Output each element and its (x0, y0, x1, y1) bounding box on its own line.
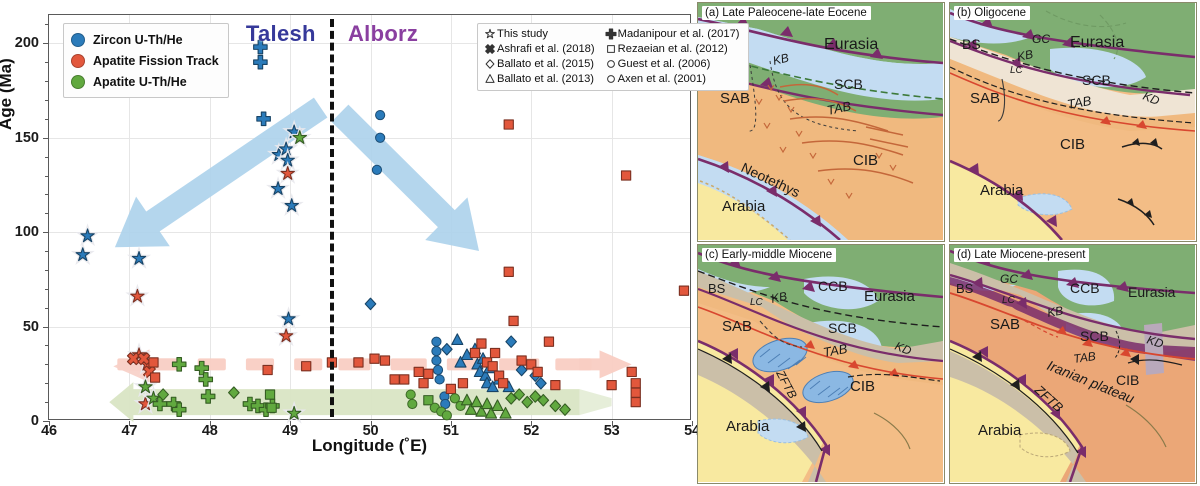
data-point (139, 380, 152, 393)
y-tick-mark-minor (45, 119, 49, 120)
data-point (372, 165, 381, 174)
data-point (81, 229, 94, 242)
marker-halo (285, 404, 302, 421)
data-point (282, 312, 295, 325)
data-point (452, 334, 463, 345)
sources-legend-label: Ballato et al. (2013) (497, 72, 605, 87)
data-point (406, 390, 415, 399)
data-point (132, 348, 145, 361)
data-point (144, 366, 156, 378)
triangle-marker-icon (484, 73, 496, 85)
map-b-title: (b) Oligocene (954, 6, 1030, 20)
aft-trend-band-segment (499, 358, 539, 370)
sources-legend-label: Rezaeian et al. (2012) (618, 42, 743, 57)
talesh-alborz-divider (330, 19, 334, 417)
aft-trend-band-segment (117, 358, 177, 370)
sources-legend-row: Ashrafi et al. (2018)Rezaeian et al. (20… (483, 42, 743, 57)
map-c-label-cib: CIB (850, 378, 875, 395)
data-point (476, 406, 487, 417)
data-point (267, 403, 276, 412)
map-c-graphic: BS CCB Eurasia LC KB SAB SCB KD TAB ZFTB… (698, 245, 943, 482)
marker-halo (277, 140, 294, 157)
data-point (167, 397, 181, 411)
y-tick-mark-minor (45, 194, 49, 195)
x-tick-mark (692, 421, 693, 426)
data-point (440, 392, 449, 401)
region-label-alborz: Alborz (348, 21, 418, 47)
data-point (474, 366, 485, 377)
data-point (432, 347, 441, 356)
y-tick-label: 0 (31, 413, 39, 429)
map-panel-d[interactable]: BS GC CCB Eurasia LC KB SAB SCB KD TAB I… (949, 244, 1197, 484)
x-axis-label: Longitude (˚E) (48, 436, 691, 456)
data-point (251, 399, 264, 413)
marker-halo (145, 389, 162, 406)
marker-halo (277, 327, 294, 344)
marker-halo (137, 395, 154, 412)
methods-legend-label: Apatite U-Th/He (93, 75, 187, 89)
methods-legend-item: Zircon U-Th/He (71, 29, 219, 50)
y-tick-mark-minor (45, 62, 49, 63)
data-point (272, 148, 285, 161)
ahe-trend-band-tail (579, 389, 611, 415)
region-label-talesh: Talesh (246, 21, 316, 47)
y-axis-label: Age (Ma) (0, 58, 16, 130)
map-b-label-lc: LC (1010, 65, 1024, 76)
data-point (76, 248, 89, 261)
map-c-label-ccb: CCB (818, 278, 848, 294)
data-point (621, 171, 630, 180)
map-c-label-lc: LC (750, 297, 764, 308)
data-point (376, 110, 385, 119)
sources-legend-symbol-cell (605, 72, 618, 87)
data-point (390, 375, 399, 384)
map-a-label-eurasia: Eurasia (824, 36, 878, 53)
data-point (138, 353, 150, 365)
data-point (259, 403, 273, 417)
data-point (432, 356, 441, 365)
circle-icon (71, 54, 85, 68)
age-longitude-scatter-panel: Age (Ma) Longitude (˚E) 4647484950515253… (0, 0, 695, 486)
y-tick-mark-minor (45, 270, 49, 271)
data-point (158, 389, 169, 401)
map-d-label-kb: KB (1046, 303, 1064, 320)
data-point (499, 379, 508, 388)
data-point (424, 396, 433, 405)
data-point (437, 407, 446, 416)
map-d-label-bs: BS (956, 281, 974, 296)
y-tick-label: 200 (15, 35, 39, 51)
data-point (254, 55, 267, 68)
map-b-label-sab: SAB (970, 90, 1000, 107)
grid-line-vertical (290, 15, 291, 419)
data-point (271, 182, 284, 195)
data-point (514, 389, 525, 401)
series-apatite-fission-track (127, 120, 688, 411)
data-point (400, 375, 409, 384)
data-point (132, 252, 145, 265)
ahe-trend-band-arrow (109, 382, 579, 422)
data-point (538, 394, 549, 406)
sources-legend-label: Ashrafi et al. (2018) (497, 42, 605, 57)
map-d-label-sab: SAB (990, 316, 1020, 333)
map-c-label-arabia: Arabia (726, 418, 770, 435)
data-point (500, 407, 511, 418)
sources-legend-symbol-cell (605, 27, 618, 42)
y-tick-mark (43, 138, 49, 139)
data-point (544, 337, 553, 346)
y-tick-mark-minor (45, 364, 49, 365)
series-apatite-u-th-he (137, 129, 571, 421)
data-point (229, 387, 240, 399)
x-tick-mark (210, 421, 211, 426)
data-point (469, 343, 480, 354)
data-point (354, 358, 363, 367)
y-tick-mark-minor (45, 402, 49, 403)
sources-legend-symbol-cell (605, 42, 618, 57)
marker-halo (130, 346, 147, 363)
data-point (478, 353, 489, 364)
data-point (631, 379, 640, 388)
sources-legend-label: Ballato et al. (2015) (497, 57, 605, 72)
marker-halo (270, 146, 287, 163)
data-point (458, 379, 467, 388)
data-point (201, 390, 214, 404)
cross-marker-icon (484, 43, 496, 55)
tectonic-evolution-maps: BS Eurasia KB SCB SAB TAB CIB Neotethys … (695, 0, 1200, 486)
data-point (506, 393, 517, 405)
data-point (432, 337, 441, 346)
data-point (627, 367, 636, 376)
data-point (550, 400, 561, 412)
map-b-label-cib: CIB (1060, 136, 1085, 153)
map-b-label-gc: GC (1032, 32, 1050, 46)
data-point (419, 379, 428, 388)
data-point (472, 358, 483, 369)
x-tick-mark (290, 421, 291, 426)
data-point (504, 267, 513, 276)
marker-halo (79, 227, 96, 244)
data-point (516, 364, 527, 376)
map-panel-c[interactable]: BS CCB Eurasia LC KB SAB SCB KD TAB ZFTB… (697, 244, 945, 484)
methods-legend-item: Apatite Fission Track (71, 50, 219, 71)
map-c-title: (c) Early-middle Miocene (702, 248, 836, 262)
aft-trend-band-segment (198, 358, 226, 370)
grid-line-horizontal (49, 327, 690, 328)
data-point (149, 358, 158, 367)
data-point (424, 369, 433, 378)
map-d-label-gc: GC (1000, 272, 1018, 286)
map-c-label-bs: BS (708, 281, 726, 296)
y-tick-mark-minor (45, 251, 49, 252)
sources-legend-label: Axen et al. (2001) (618, 72, 743, 87)
data-point (480, 370, 491, 381)
data-point (285, 199, 298, 212)
y-tick-mark-minor (45, 383, 49, 384)
y-tick-mark-minor (45, 100, 49, 101)
data-point (281, 153, 294, 166)
y-tick-label: 50 (23, 319, 39, 335)
data-point (131, 289, 144, 302)
marker-halo (138, 355, 155, 372)
sources-legend-label: Guest et al. (2006) (618, 57, 743, 72)
map-a-title: (a) Late Paleocene-late Eocene (702, 6, 871, 20)
x-tick-mark (451, 421, 452, 426)
data-point (486, 407, 497, 418)
x-tick-mark (129, 421, 130, 426)
grid-line-vertical (371, 15, 372, 419)
y-tick-mark-minor (45, 81, 49, 82)
figure-root: Age (Ma) Longitude (˚E) 4647484950515253… (0, 0, 1200, 486)
data-point (456, 401, 465, 410)
data-point (441, 399, 450, 408)
x-tick-mark (49, 421, 50, 426)
methods-legend: Zircon U-Th/HeApatite Fission TrackApati… (63, 23, 229, 98)
sources-legend-symbol-cell (483, 72, 497, 87)
sources-legend-row: Ballato et al. (2015)Guest et al. (2006) (483, 57, 743, 72)
plot-area: 464748495051525354050100150200 Talesh Al… (48, 14, 691, 420)
sources-legend-row: This studyMadanipour et al. (2017) (483, 27, 743, 42)
data-point (281, 167, 294, 180)
data-point (482, 358, 491, 367)
map-d-label-eurasia: Eurasia (1128, 284, 1176, 300)
sources-legend-symbol-cell (605, 57, 618, 72)
grid-line-vertical (451, 15, 452, 419)
data-point (631, 398, 640, 407)
data-point (257, 112, 271, 126)
y-tick-mark (43, 327, 49, 328)
y-tick-mark (43, 421, 49, 422)
map-c-label-eurasia: Eurasia (864, 288, 916, 305)
y-tick-mark-minor (45, 24, 49, 25)
data-point (503, 381, 514, 392)
circle-icon (71, 33, 85, 47)
data-point (430, 403, 439, 412)
sources-legend-label: Madanipour et al. (2017) (618, 27, 743, 42)
data-point (461, 394, 472, 405)
circle-marker-icon (605, 58, 617, 70)
data-point (263, 365, 272, 374)
data-point (551, 381, 560, 390)
data-point (484, 362, 495, 373)
marker-halo (279, 151, 296, 168)
marker-halo (280, 310, 297, 327)
map-b-graphic: BS GC Eurasia KB LC SCB KD SAB TAB CIB A… (950, 3, 1195, 240)
map-a-label-scb: SCB (834, 76, 863, 92)
methods-legend-label: Apatite Fission Track (93, 54, 219, 68)
data-point (172, 358, 186, 372)
data-point (265, 390, 274, 399)
methods-legend-label: Zircon U-Th/He (93, 33, 183, 47)
x-tick-mark (531, 421, 532, 426)
map-a-label-cib: CIB (853, 152, 878, 169)
y-tick-label: 100 (15, 224, 39, 240)
y-tick-mark (43, 43, 49, 44)
data-point (482, 377, 493, 388)
aft-trend-arrowhead-left (113, 349, 173, 382)
diamond-marker-icon (484, 58, 496, 70)
sources-legend: This studyMadanipour et al. (2017)Ashraf… (477, 23, 749, 91)
data-point (536, 377, 547, 389)
data-point (471, 396, 482, 407)
data-point (408, 399, 417, 408)
data-point (243, 397, 257, 411)
map-d-label-scb: SCB (1080, 328, 1109, 344)
sources-legend-symbol-cell (483, 42, 497, 57)
aft-trend-band-segment (338, 358, 370, 370)
map-b-label-arabia: Arabia (980, 182, 1024, 199)
map-b-label-bs: BS (962, 36, 981, 52)
y-tick-mark (43, 232, 49, 233)
data-point (433, 365, 442, 374)
y-tick-mark-minor (45, 157, 49, 158)
data-point (139, 397, 152, 410)
marker-halo (129, 287, 146, 304)
aft-trend-band-segment (555, 358, 591, 370)
data-point (195, 361, 208, 375)
circle-marker-icon (605, 73, 617, 85)
aft-trend-band-segment (294, 358, 322, 370)
data-point (470, 348, 479, 357)
data-point (266, 399, 280, 413)
map-panel-b[interactable]: BS GC Eurasia KB LC SCB KD SAB TAB CIB A… (949, 2, 1197, 242)
data-point (488, 362, 497, 371)
data-point (487, 381, 498, 392)
data-point (490, 348, 499, 357)
map-c-label-scb: SCB (828, 320, 857, 336)
map-c-label-sab: SAB (722, 318, 752, 335)
divergent-exhumation-arrow-right (332, 105, 479, 251)
data-point (153, 397, 167, 411)
marker-halo (279, 165, 296, 182)
data-point (482, 398, 493, 409)
data-point (147, 391, 160, 404)
y-tick-mark-minor (45, 345, 49, 346)
x-tick-mark (371, 421, 372, 426)
circle-icon (71, 75, 85, 89)
marker-halo (283, 197, 300, 214)
data-point (172, 403, 186, 417)
y-tick-mark-minor (45, 213, 49, 214)
sources-legend-symbol-cell (483, 27, 497, 42)
data-point (140, 357, 153, 370)
data-point (495, 371, 504, 380)
data-point (150, 373, 159, 382)
square-marker-icon (605, 43, 617, 55)
data-point (461, 349, 472, 360)
map-b-label-scb: SCB (1082, 72, 1111, 88)
map-d-label-cib: CIB (1116, 372, 1139, 388)
star-marker-icon (484, 28, 496, 40)
data-point (560, 404, 571, 416)
marker-halo (74, 246, 91, 263)
map-d-label-lc: LC (1002, 295, 1016, 306)
map-d-graphic: BS GC CCB Eurasia LC KB SAB SCB KD TAB I… (950, 245, 1195, 482)
data-point (455, 356, 466, 367)
map-b-label-eurasia: Eurasia (1070, 34, 1124, 51)
data-point (509, 316, 518, 325)
grid-line-horizontal (49, 138, 690, 139)
aft-trend-arrowhead-right (579, 350, 631, 378)
y-tick-label: 150 (15, 130, 39, 146)
data-point (506, 336, 517, 348)
aft-trend-band-segment (246, 358, 274, 370)
marker-halo (137, 378, 154, 395)
sources-legend-label: This study (497, 27, 605, 42)
plus-marker-icon (605, 28, 617, 40)
map-a-label-arabia: Arabia (722, 198, 766, 215)
y-tick-mark-minor (45, 289, 49, 290)
methods-legend-item: Apatite U-Th/He (71, 71, 219, 92)
data-point (492, 400, 503, 411)
data-point (533, 367, 542, 376)
data-point (494, 373, 505, 384)
data-point (504, 120, 513, 129)
sources-legend-row: Ballato et al. (2013)Axen et al. (2001) (483, 72, 743, 87)
data-point (414, 367, 423, 376)
map-d-label-ccb: CCB (1070, 280, 1100, 296)
data-point (517, 356, 526, 365)
x-tick-mark (612, 421, 613, 426)
data-point (465, 404, 476, 415)
y-tick-mark-minor (45, 176, 49, 177)
data-point (477, 339, 486, 348)
sources-legend-symbol-cell (483, 57, 497, 72)
data-point (631, 388, 640, 397)
data-point (380, 356, 389, 365)
map-d-label-arabia: Arabia (978, 422, 1022, 439)
data-point (679, 286, 688, 295)
data-point (302, 362, 311, 371)
y-tick-mark-minor (45, 308, 49, 309)
marker-halo (269, 180, 286, 197)
aft-trend-band-segment (391, 358, 427, 370)
marker-halo (130, 249, 147, 266)
divergent-exhumation-arrow-left (115, 98, 328, 248)
grid-line-horizontal (49, 232, 690, 233)
map-d-title: (d) Late Miocene-present (954, 248, 1089, 262)
data-point (435, 375, 444, 384)
map-a-label-sab: SAB (720, 90, 750, 107)
aft-trend-band-segment (447, 358, 483, 370)
